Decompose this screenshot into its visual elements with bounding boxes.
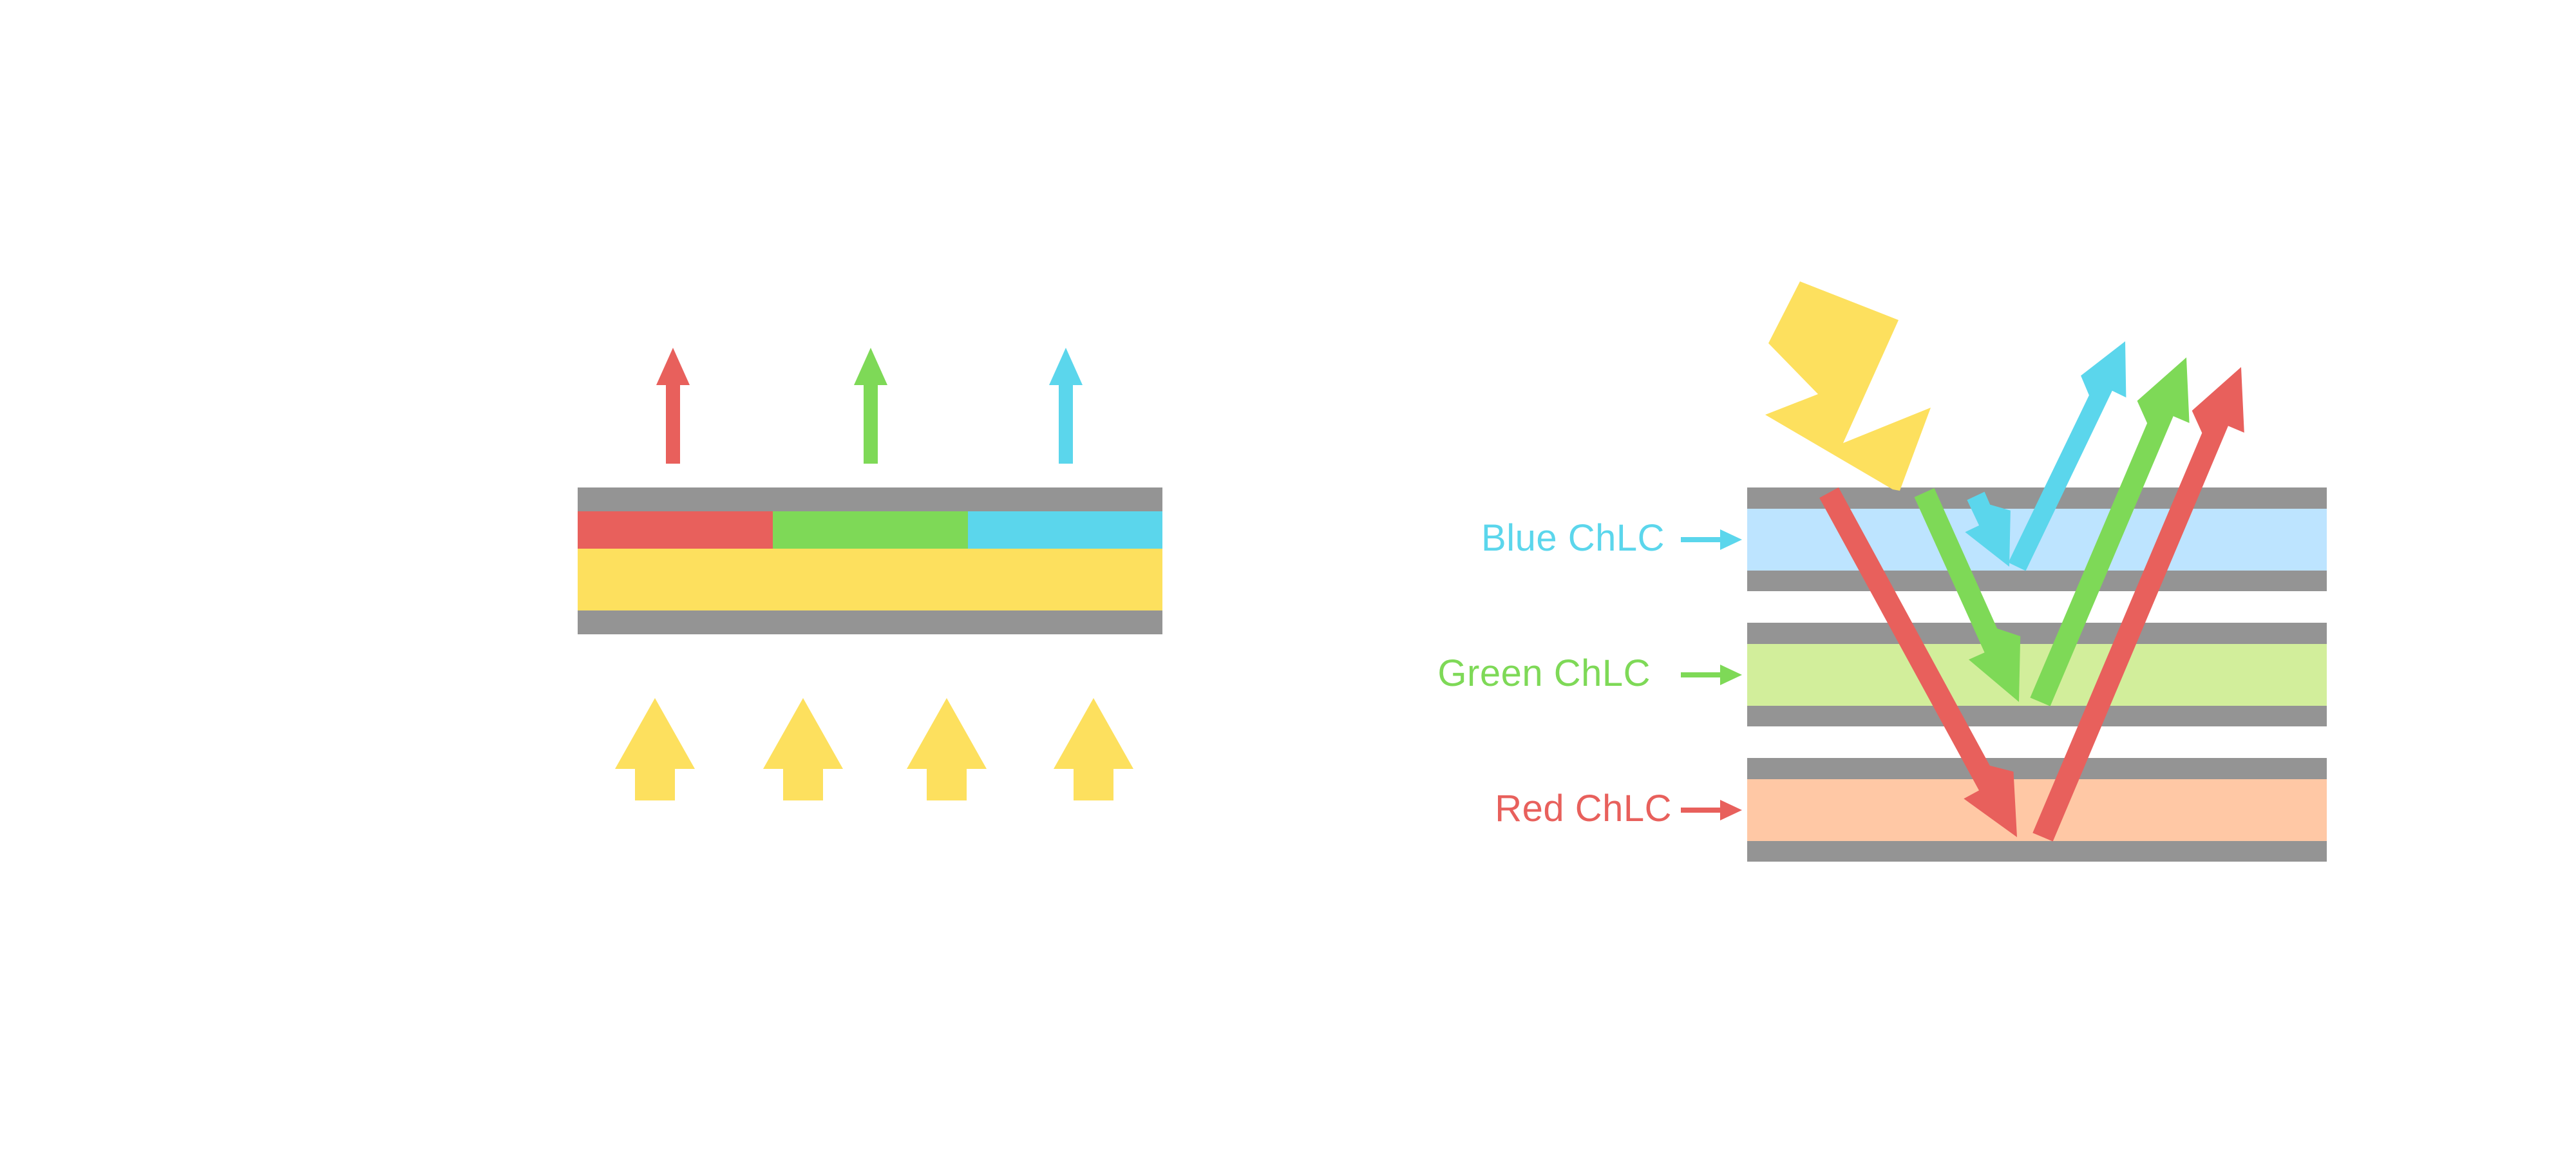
chlc-display-diagram: Blue ChLCGreen ChLCRed ChLC [0,0,2576,1154]
red-top-electrode [1747,758,2327,779]
top-electrode [578,487,1162,511]
yellow-backlight-arrow-2 [763,698,843,800]
green-chlc-pointer-head [1720,665,1742,685]
yellow-backlight-arrows-group [615,698,1133,800]
red-chlc-group [1747,758,2327,862]
green-chlc-group [1747,623,2327,726]
red-chlc-pointer [1681,800,1742,820]
red-emission-arrow [656,348,690,464]
blue-chlc-pointer [1681,529,1742,550]
chlc-layer-labels: Blue ChLCGreen ChLCRed ChLC [1437,517,1742,829]
bottom-electrode [578,610,1162,634]
green-top-electrode [1747,623,2327,644]
yellow-backlight-arrow-3 [907,698,987,800]
yellow-backlight [578,549,1162,610]
rgb-emission-arrows-group [656,348,1083,464]
green-emission-arrow [854,348,887,464]
green-bottom-electrode [1747,706,2327,726]
red-chlc-group-label: Red ChLC [1495,788,1672,829]
emissive-layer-stack [578,487,1162,634]
emissive-rgb-stack-panel [578,348,1162,800]
red-emitter-segment [578,511,773,549]
red-chlc-pointer-head [1720,800,1742,820]
blue-chlc-pointer-head [1720,529,1742,550]
red-bottom-electrode [1747,841,2327,862]
yellow-backlight-arrow-4 [1054,698,1133,800]
rgb-emitter [578,511,1162,549]
green-emitter-segment [773,511,968,549]
reflective-chlc-stack-panel: Blue ChLCGreen ChLCRed ChLC [1437,281,2327,862]
blue-emission-arrow [1049,348,1083,464]
blue-bottom-electrode [1747,571,2327,591]
green-chlc-pointer [1681,665,1742,685]
blue-chlc-group-label: Blue ChLC [1481,517,1665,559]
yellow-backlight-arrow-1 [615,698,695,800]
blue-emitter-segment [968,511,1162,549]
diagram-canvas: Blue ChLCGreen ChLCRed ChLC [0,0,2576,1154]
green-chlc-group-label: Green ChLC [1437,652,1651,694]
yellow-incident-light-arrow [1765,281,1931,491]
incident-light-group [1765,281,1931,491]
